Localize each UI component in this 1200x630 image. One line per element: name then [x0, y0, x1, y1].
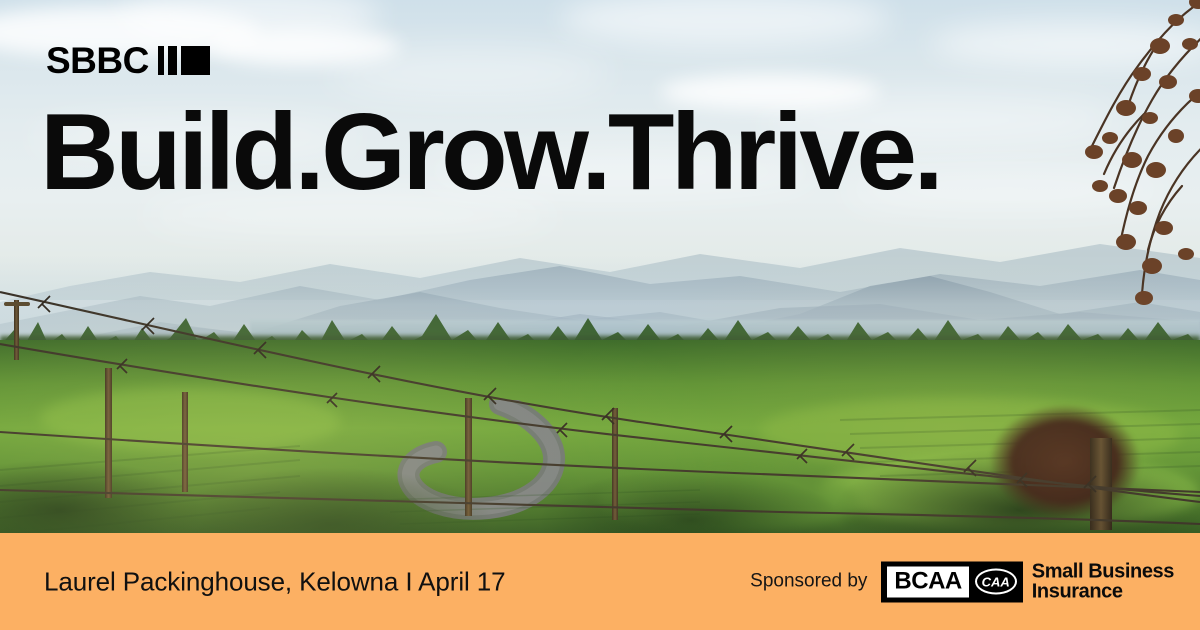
- dried-branch: [1040, 0, 1200, 320]
- page-title: Build.Grow.Thrive.: [40, 98, 940, 207]
- sbbc-logo-mark: [158, 46, 210, 75]
- bcaa-wordmark: BCAA: [887, 566, 968, 597]
- sponsor-product-name: Small Business Insurance: [1032, 561, 1174, 602]
- event-footer-bar: Laurel Packinghouse, Kelowna I April 17 …: [0, 533, 1200, 630]
- bcaa-sponsor-logo[interactable]: BCAA CAA Small Business Insurance: [881, 561, 1174, 602]
- thin-bar-icon: [158, 46, 164, 75]
- caa-badge-icon: CAA: [975, 569, 1017, 595]
- sponsor-product-line-1: Small Business: [1032, 561, 1174, 581]
- promotional-banner: SBBC Build.Grow.Thrive. Laurel Packingho…: [0, 0, 1200, 630]
- sbbc-logo-text: SBBC: [46, 42, 149, 79]
- square-block-icon: [181, 46, 210, 75]
- caa-badge-text: CAA: [982, 575, 1010, 588]
- medium-bar-icon: [168, 46, 177, 75]
- sponsor-group: Sponsored by BCAA CAA Small Business Ins…: [750, 561, 1174, 602]
- bcaa-logo-box: BCAA CAA: [881, 561, 1022, 602]
- sponsored-by-label: Sponsored by: [750, 571, 867, 593]
- sbbc-logo[interactable]: SBBC: [46, 41, 210, 79]
- barbed-wire-fence: [0, 240, 1200, 540]
- cloud: [330, 50, 610, 96]
- event-details-text: Laurel Packinghouse, Kelowna I April 17: [44, 566, 506, 597]
- sponsor-product-line-2: Insurance: [1032, 582, 1174, 602]
